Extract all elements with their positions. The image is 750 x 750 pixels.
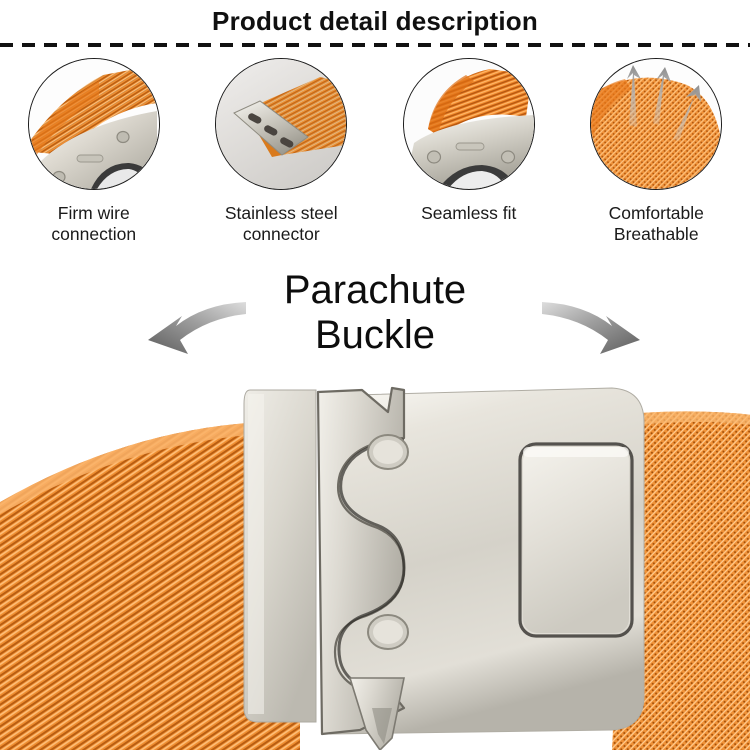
feature-list: Firm wire connection — [0, 58, 750, 258]
feature-label-firm-wire-connection: Firm wire connection — [51, 203, 136, 245]
feature-item-seamless-fit: Seamless fit — [375, 58, 563, 258]
buckle-product-photo — [0, 378, 750, 750]
feature-label-line1: Stainless steel — [225, 203, 338, 224]
feature-label-seamless-fit: Seamless fit — [421, 203, 516, 224]
feature-label-line1: Firm wire — [51, 203, 136, 224]
stainless-steel-connector-illustration — [216, 59, 346, 189]
feature-label-line2: connection — [51, 224, 136, 245]
feature-label-comfortable-breathable: Comfortable Breathable — [609, 203, 704, 245]
buckle-left-tab — [244, 390, 316, 722]
feature-label-line2: connector — [225, 224, 338, 245]
feature-item-stainless-steel-connector: Stainless steel connector — [188, 58, 376, 258]
seamless-fit-illustration — [404, 59, 534, 189]
feature-label-line1: Comfortable — [609, 203, 704, 224]
comfortable-breathable-illustration — [591, 59, 721, 189]
feature-image-stainless-steel-connector — [215, 58, 347, 190]
feature-image-seamless-fit — [403, 58, 535, 190]
curved-arrow-right-icon — [540, 296, 650, 366]
feature-image-comfortable-breathable — [590, 58, 722, 190]
dashed-divider — [0, 43, 750, 47]
feature-label-stainless-steel-connector: Stainless steel connector — [225, 203, 338, 245]
curved-arrow-left-icon — [138, 296, 248, 366]
product-detail-image: Product detail description — [0, 0, 750, 750]
parachute-buckle-illustration — [0, 378, 750, 750]
firm-wire-connection-illustration — [29, 59, 159, 189]
feature-item-comfortable-breathable: Comfortable Breathable — [563, 58, 750, 258]
feature-label-line2: Breathable — [609, 224, 704, 245]
page-title: Product detail description — [0, 4, 750, 38]
feature-label-line1: Seamless fit — [421, 203, 516, 224]
feature-image-firm-wire-connection — [28, 58, 160, 190]
feature-item-firm-wire-connection: Firm wire connection — [0, 58, 188, 258]
